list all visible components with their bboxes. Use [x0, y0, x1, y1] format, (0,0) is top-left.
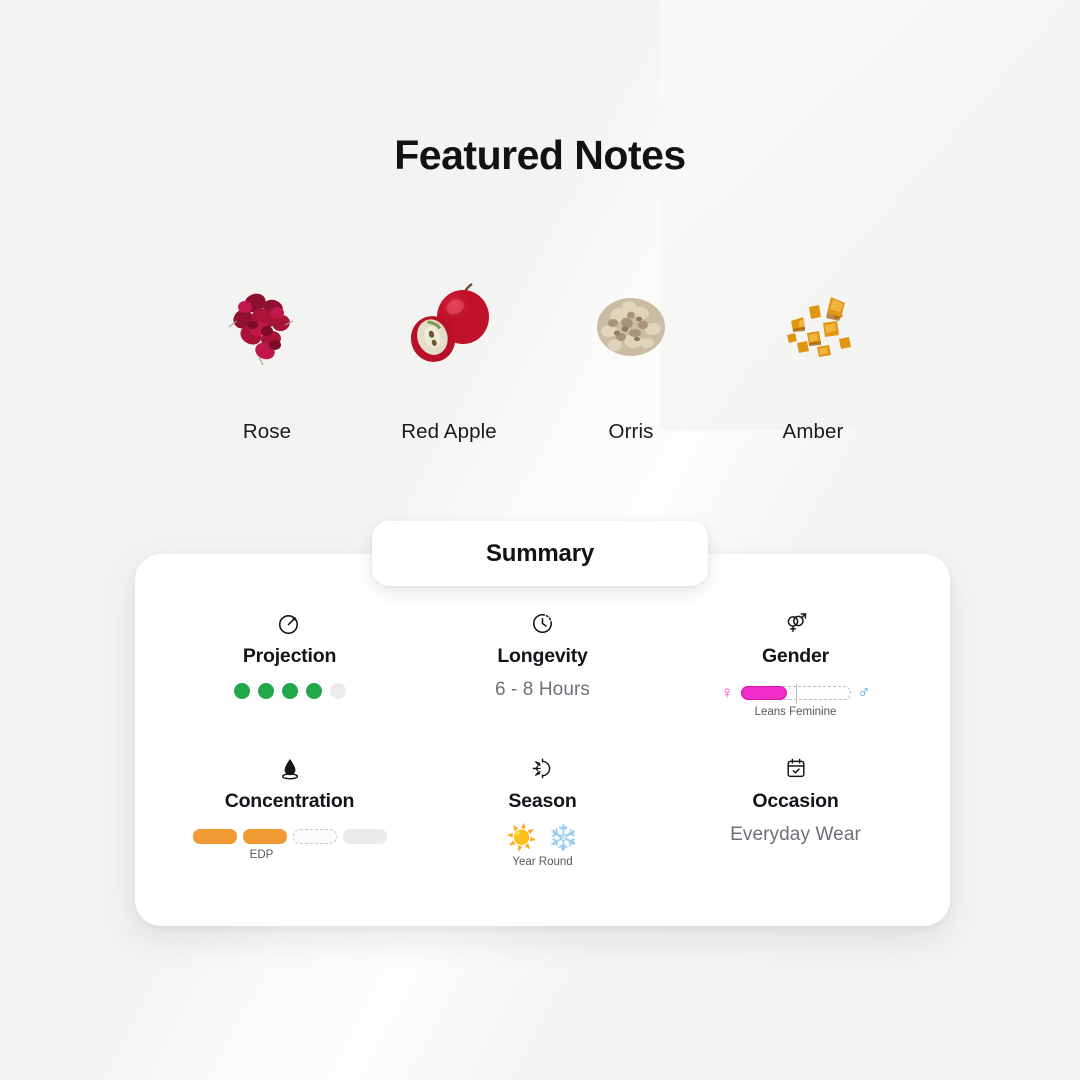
page-title: Featured Notes [0, 132, 1080, 179]
occasion-value: Everyday Wear [730, 824, 861, 846]
concentration-segment-3 [293, 829, 337, 844]
sun-icon: ☀️ [506, 826, 537, 851]
summary-cell-projection: Projection [163, 606, 416, 751]
summary-cell-occasion: Occasion Everyday Wear [669, 751, 922, 896]
season-caption: Year Round [512, 856, 572, 868]
orris-root-image [540, 272, 722, 392]
concentration-segment-1 [193, 829, 237, 844]
gender-fill [741, 686, 787, 700]
gender-slider[interactable]: ♀ ♂ [721, 684, 871, 701]
sun-snowflake-icon [530, 751, 555, 781]
projection-dot-1 [234, 683, 250, 699]
clock-icon [530, 606, 555, 636]
venus-icon: ♀ [721, 684, 734, 701]
note-item-red-apple[interactable]: Red Apple [358, 272, 540, 444]
summary-cell-season: Season ☀️ ❄️ Year Round [416, 751, 669, 896]
summary-cell-longevity: Longevity 6 - 8 Hours [416, 606, 669, 751]
summary-cell-gender: Gender ♀ ♂ Leans Feminine [669, 606, 922, 751]
water-drop-icon [278, 751, 302, 781]
cell-title: Season [508, 790, 576, 813]
projection-dot-5 [330, 683, 346, 699]
amber-resin-image [722, 272, 904, 392]
summary-cell-concentration: Concentration EDP [163, 751, 416, 896]
note-label: Red Apple [358, 420, 540, 444]
cell-title: Projection [243, 645, 336, 668]
gender-caption: Leans Feminine [755, 706, 837, 718]
projection-dot-2 [258, 683, 274, 699]
gauge-icon [277, 606, 302, 636]
cell-title: Concentration [225, 790, 355, 813]
concentration-segment-2 [243, 829, 287, 844]
note-item-amber[interactable]: Amber [722, 272, 904, 444]
note-label: Orris [540, 420, 722, 444]
projection-meter[interactable] [234, 683, 346, 699]
calendar-check-icon [784, 751, 808, 781]
summary-card: Projection Longevity 6 - 8 Hours [135, 554, 950, 926]
projection-dot-3 [282, 683, 298, 699]
cell-title: Occasion [752, 790, 838, 813]
tab-summary[interactable]: Summary [372, 521, 708, 586]
featured-notes-row: Rose [0, 272, 1080, 444]
rose-petals-image [176, 272, 358, 392]
gender-track[interactable] [741, 686, 851, 700]
concentration-caption: EDP [250, 849, 274, 861]
cell-title: Gender [762, 645, 829, 668]
season-badges: ☀️ ❄️ [506, 826, 578, 851]
cell-title: Longevity [497, 645, 587, 668]
tab-summary-label: Summary [486, 540, 594, 568]
red-apple-image [358, 272, 540, 392]
snowflake-icon: ❄️ [548, 826, 579, 851]
longevity-value: 6 - 8 Hours [495, 679, 590, 701]
summary-grid: Projection Longevity 6 - 8 Hours [135, 554, 950, 926]
projection-dot-4 [306, 683, 322, 699]
note-item-orris[interactable]: Orris [540, 272, 722, 444]
note-item-rose[interactable]: Rose [176, 272, 358, 444]
concentration-meter[interactable] [193, 829, 387, 844]
note-label: Amber [722, 420, 904, 444]
venus-mars-icon [783, 606, 809, 636]
note-label: Rose [176, 420, 358, 444]
concentration-segment-4 [343, 829, 387, 844]
mars-icon: ♂ [858, 684, 871, 701]
gender-midpoint-tick [796, 684, 797, 704]
